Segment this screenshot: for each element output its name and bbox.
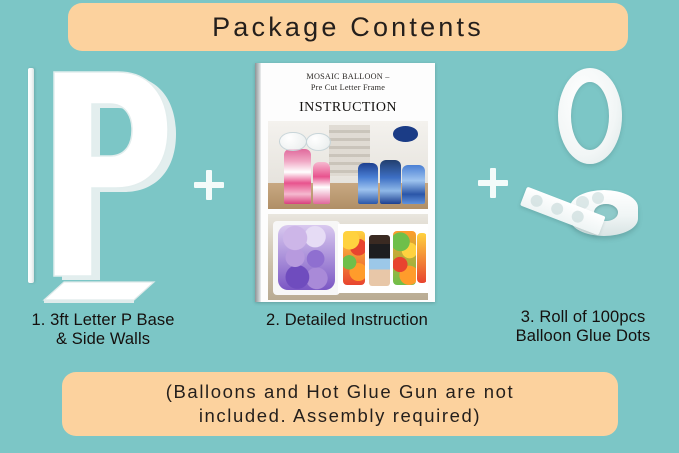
footer-note-line-2: included. Assembly required) (166, 404, 515, 428)
letter-p-icon (48, 68, 170, 280)
photo-letter-t (343, 231, 365, 284)
footer-note: (Balloons and Hot Glue Gun are not inclu… (152, 380, 529, 429)
product-letter-p (4, 62, 194, 306)
photo-blue-letter-o (358, 163, 379, 203)
glue-strip-dot-1 (529, 193, 545, 209)
caption-item-3-line-1: 3. Roll of 100pcs (490, 308, 676, 327)
photo-blue-letter-n (380, 160, 401, 204)
booklet-subtitle: MOSAIC BALLOON – Pre Cut Letter Frame (268, 72, 428, 93)
caption-item-1-line-2: & Side Walls (8, 330, 198, 349)
caption-item-1-line-1: 1. 3ft Letter P Base (8, 311, 198, 330)
page-title: Package Contents (212, 14, 484, 41)
caption-item-1: 1. 3ft Letter P Base & Side Walls (8, 311, 198, 350)
letter-p-side-wall (28, 68, 34, 283)
glue-strip-dot-3 (570, 209, 586, 225)
glue-dot-c (592, 192, 604, 204)
glue-roll-upright (558, 68, 622, 164)
booklet-title: INSTRUCTION (268, 100, 428, 116)
photo-letter-s (273, 221, 340, 295)
caption-item-3-line-2: Balloon Glue Dots (490, 327, 676, 346)
booklet-photo-bottom (268, 214, 428, 300)
booklet-subtitle-line-1: MOSAIC BALLOON – (268, 72, 428, 83)
photo-clear-balloon-2 (306, 133, 330, 151)
footer-banner: (Balloons and Hot Glue Gun are not inclu… (62, 372, 618, 436)
photo-letter-w (393, 231, 415, 284)
caption-item-2-line-1: 2. Detailed Instruction (247, 311, 447, 330)
photo-letter-o (417, 233, 427, 284)
letter-p-front-layer (48, 68, 170, 280)
letter-p-base (42, 274, 156, 304)
photo-child (369, 235, 390, 286)
caption-item-2: 2. Detailed Instruction (247, 311, 447, 330)
product-instruction-booklet: MOSAIC BALLOON – Pre Cut Letter Frame IN… (255, 63, 435, 302)
photo-pink-letter-2 (313, 162, 331, 204)
package-contents-poster: Package Contents MOSAIC BALLOON – (0, 0, 679, 453)
footer-note-line-1: (Balloons and Hot Glue Gun are not (166, 380, 515, 404)
letter-p-base-icon (42, 274, 156, 304)
booklet-photo-top (268, 121, 428, 209)
caption-item-3: 3. Roll of 100pcs Balloon Glue Dots (490, 308, 676, 347)
booklet-cover-page: MOSAIC BALLOON – Pre Cut Letter Frame IN… (261, 63, 435, 302)
photo-two-letters (338, 224, 428, 293)
photo-pink-letter (284, 149, 311, 204)
photo-blue-letter-e (402, 165, 424, 204)
plus-icon-1 (194, 170, 224, 200)
photo-clear-balloon-1 (279, 132, 307, 152)
booklet-subtitle-line-2: Pre Cut Letter Frame (268, 83, 428, 94)
photo-s-balloons (278, 225, 334, 290)
plus-icon-2 (478, 168, 508, 198)
product-glue-dot-rolls (512, 64, 676, 304)
header-banner: Package Contents (68, 3, 628, 51)
glue-strip-dot-2 (549, 201, 565, 217)
